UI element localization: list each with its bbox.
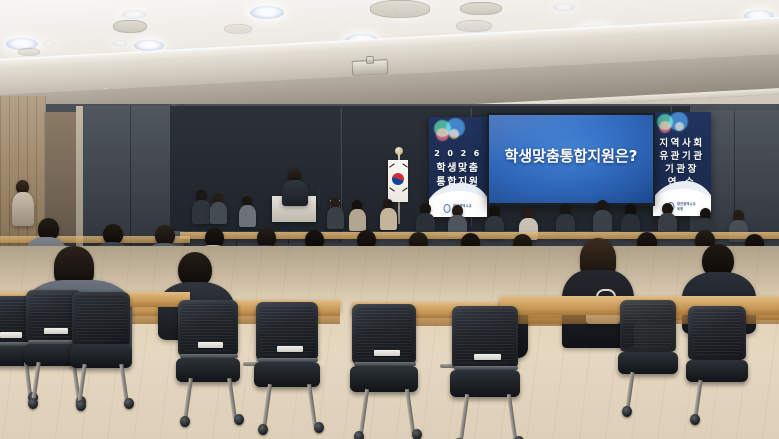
ceiling-vent-icon (370, 0, 430, 18)
microphone-stand (318, 186, 320, 206)
chair-label-tag (44, 328, 68, 334)
trigram-bar (389, 187, 395, 192)
seminar-room-photo: 2 0 2 6 학생맞춤 통합지원 일시 : 2026. 0. 00. (수) … (0, 0, 779, 439)
korean-national-flag-icon (388, 160, 408, 202)
attendee-body (12, 192, 34, 226)
chair-label-tag (277, 346, 303, 352)
chair-caster (622, 406, 632, 417)
chair-caster (234, 414, 244, 425)
presenter-body (282, 180, 308, 206)
event-banner-left: 2 0 2 6 학생맞춤 통합지원 일시 : 2026. 0. 00. (수) … (429, 117, 487, 217)
projection-screen: 학생맞춤통합지원은? (489, 115, 653, 203)
downlight-icon (113, 40, 127, 46)
chair-caster (180, 416, 190, 427)
ceiling-vent-icon (18, 48, 40, 56)
trigram-bar (402, 163, 408, 168)
downlight-icon (122, 10, 146, 19)
banner-blob-yellow (449, 129, 459, 139)
banner-blob-red (659, 121, 671, 133)
chair-caster (76, 400, 86, 411)
attendee-body (349, 209, 366, 231)
chair-caster (124, 398, 134, 409)
projector-mount (366, 56, 374, 64)
chair-backrest (688, 306, 746, 360)
door-frame (76, 106, 83, 246)
banner-blob-red (436, 128, 449, 141)
banner-blob-yellow (675, 122, 684, 131)
banner-right-row-2: 유관기관 (653, 151, 711, 162)
attendee-body (593, 210, 612, 232)
trigram-bar (402, 187, 408, 192)
banner-right-logo-text: 대전광역시교육청 (677, 201, 697, 211)
attendee-body (380, 208, 397, 230)
ceiling-vent-icon (113, 20, 147, 33)
ceiling-vent-icon (224, 24, 252, 34)
chair-caster (314, 422, 324, 433)
ceiling-vent-icon (460, 2, 502, 15)
education-office-logo-icon (444, 204, 451, 213)
chair-seat (618, 352, 678, 374)
downlight-icon (553, 3, 575, 11)
chair-caster (258, 424, 268, 435)
attendee-body (210, 202, 227, 224)
chair-label-tag (474, 354, 501, 360)
banner-right-row-1: 지역사회 (653, 138, 711, 149)
taeguk-symbol (392, 173, 404, 185)
attendee-body (327, 207, 344, 229)
chair-backrest (72, 292, 130, 346)
chair-seat (686, 360, 748, 382)
banner-left-line1: 학생맞춤 (429, 163, 487, 175)
banner-left-year: 2 0 2 6 (429, 149, 487, 158)
attendee-body (239, 205, 256, 227)
slide-title: 학생맞춤통합지원은? (489, 145, 653, 166)
downlight-icon (43, 41, 55, 46)
chair-backrest (620, 300, 676, 352)
banner-right-row-3: 기관장 (653, 164, 711, 175)
event-banner-right: 지역사회 유관기관 기관장 연 수 일시 : 2026. 0. 00. 0 00… (653, 112, 711, 216)
chair-label-tag (374, 350, 400, 356)
ceiling-vent-icon (456, 20, 492, 32)
attendee-body (192, 200, 211, 224)
chair-label-tag (198, 342, 223, 348)
trigram-bar (389, 163, 395, 168)
chair-seat (450, 370, 520, 397)
chair-caster (690, 414, 700, 425)
chair-label-tag (0, 332, 22, 338)
chair-caster (28, 398, 38, 409)
downlight-icon (250, 6, 284, 19)
